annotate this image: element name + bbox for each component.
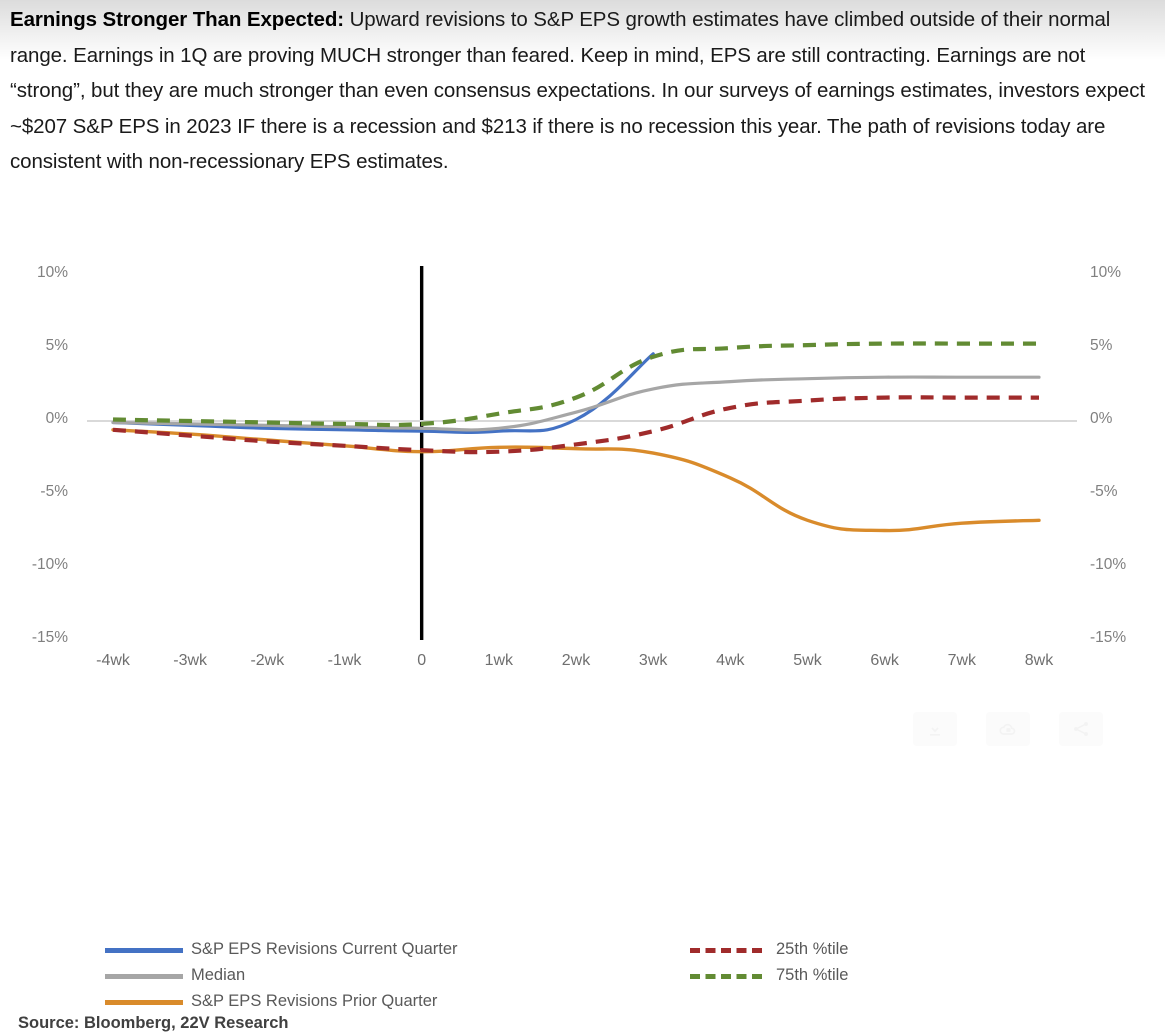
legend-label: S&P EPS Revisions Current Quarter	[191, 940, 458, 959]
y-tick-right: -15%	[1090, 629, 1160, 647]
x-tick: -4wk	[78, 652, 148, 670]
y-tick-right: 10%	[1090, 264, 1160, 282]
legend-label: S&P EPS Revisions Prior Quarter	[191, 992, 437, 1011]
commentary-body: Upward revisions to S&P EPS growth estim…	[10, 8, 1145, 173]
x-tick: -3wk	[155, 652, 225, 670]
chart-legend: S&P EPS Revisions Current QuarterMedianS…	[0, 938, 1165, 1018]
y-tick-right: 5%	[1090, 337, 1160, 355]
legend-label: 25th %tile	[776, 940, 848, 959]
commentary-lead: Earnings Stronger Than Expected:	[10, 8, 344, 31]
x-tick: -2wk	[232, 652, 302, 670]
source-note: Source: Bloomberg, 22V Research	[18, 1014, 289, 1033]
x-tick: 7wk	[927, 652, 997, 670]
x-tick: 1wk	[464, 652, 534, 670]
x-tick: 5wk	[773, 652, 843, 670]
legend-swatch	[690, 948, 762, 953]
download-icon[interactable]	[913, 712, 957, 746]
y-tick-right: -5%	[1090, 483, 1160, 501]
x-tick: 0	[387, 652, 457, 670]
slide-root: Earnings Stronger Than Expected: Upward …	[0, 0, 1165, 800]
legend-swatch	[105, 974, 183, 979]
eps-revisions-chart: 10%5%0%-5%-10%-15% 10%5%0%-5%-10%-15% -4…	[0, 248, 1165, 800]
y-tick-right: 0%	[1090, 410, 1160, 428]
legend-swatch	[105, 948, 183, 953]
y-tick-left: -5%	[6, 483, 68, 501]
x-tick: 4wk	[695, 652, 765, 670]
legend-swatch	[105, 1000, 183, 1005]
legend-swatch	[690, 974, 762, 979]
y-tick-left: 10%	[6, 264, 68, 282]
x-tick: 3wk	[618, 652, 688, 670]
y-tick-right: -10%	[1090, 556, 1160, 574]
share-icon[interactable]	[1059, 712, 1103, 746]
x-tick: 6wk	[850, 652, 920, 670]
legend-label: Median	[191, 966, 245, 985]
y-tick-left: 5%	[6, 337, 68, 355]
lock-cloud-icon[interactable]	[986, 712, 1030, 746]
x-tick: 2wk	[541, 652, 611, 670]
y-tick-left: 0%	[6, 410, 68, 428]
y-tick-left: -15%	[6, 629, 68, 647]
x-tick: -1wk	[310, 652, 380, 670]
commentary-paragraph: Earnings Stronger Than Expected: Upward …	[10, 2, 1158, 180]
y-tick-left: -10%	[6, 556, 68, 574]
x-tick: 8wk	[1004, 652, 1074, 670]
legend-label: 75th %tile	[776, 966, 848, 985]
